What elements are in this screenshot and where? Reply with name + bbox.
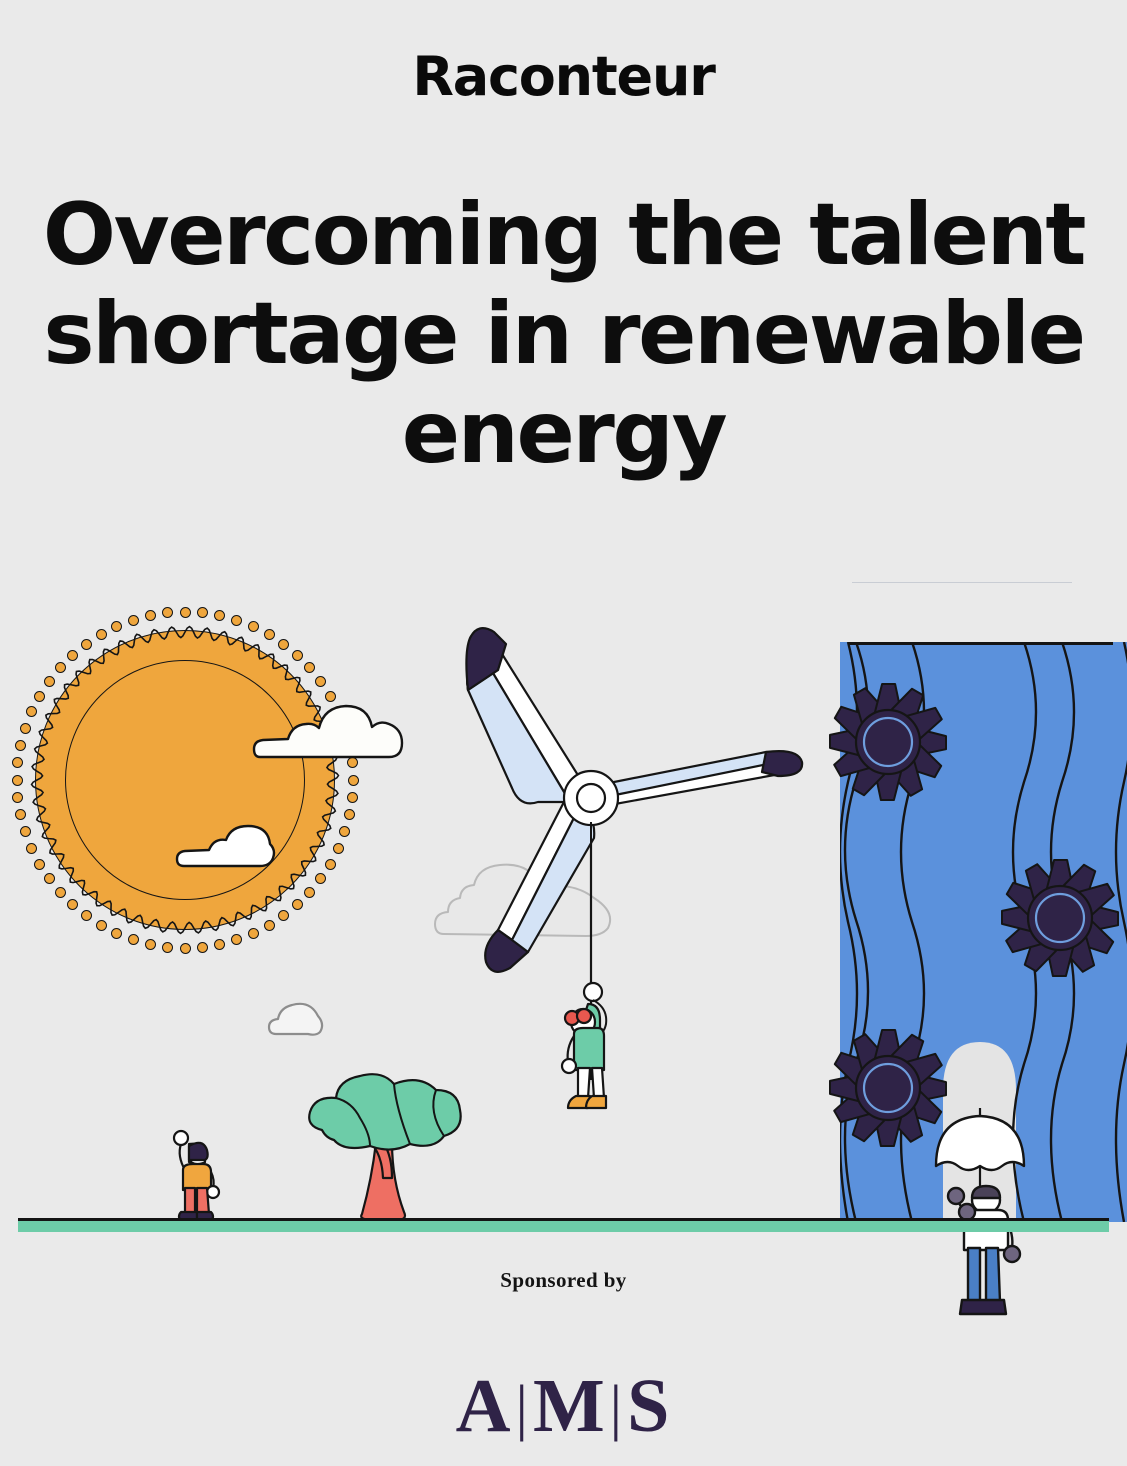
ams-letter-s: S	[627, 1364, 671, 1448]
ams-letter-m: M	[533, 1364, 607, 1448]
poster-page: Raconteur Overcoming the talent shortage…	[0, 0, 1127, 1466]
page-title: Overcoming the talent shortage in renewa…	[18, 186, 1109, 483]
ams-letter-a: A	[456, 1364, 513, 1448]
water-horizon-faint-line	[852, 582, 1072, 583]
tree-icon	[300, 1068, 470, 1220]
cloud-large-icon	[252, 695, 412, 767]
ams-separator-1: |	[516, 1377, 530, 1439]
water-illustration	[840, 600, 1127, 1230]
water-surface-line	[848, 642, 1113, 645]
sponsor-logo-ams[interactable]: A|M|S	[0, 1368, 1127, 1444]
cloud-small-icon	[176, 820, 286, 874]
illustration	[0, 540, 1127, 1240]
ams-separator-2: |	[610, 1377, 624, 1439]
sun-illustration	[10, 605, 360, 955]
brand-name: Raconteur	[412, 50, 714, 104]
waving-person-icon	[165, 1126, 219, 1222]
ground-strip	[18, 1218, 1109, 1232]
brand-logo[interactable]: Raconteur	[0, 50, 1127, 104]
hanging-technician-icon	[548, 980, 638, 1110]
sponsored-by-label: Sponsored by	[0, 1268, 1127, 1293]
cloud-tiny-icon	[268, 1000, 330, 1040]
